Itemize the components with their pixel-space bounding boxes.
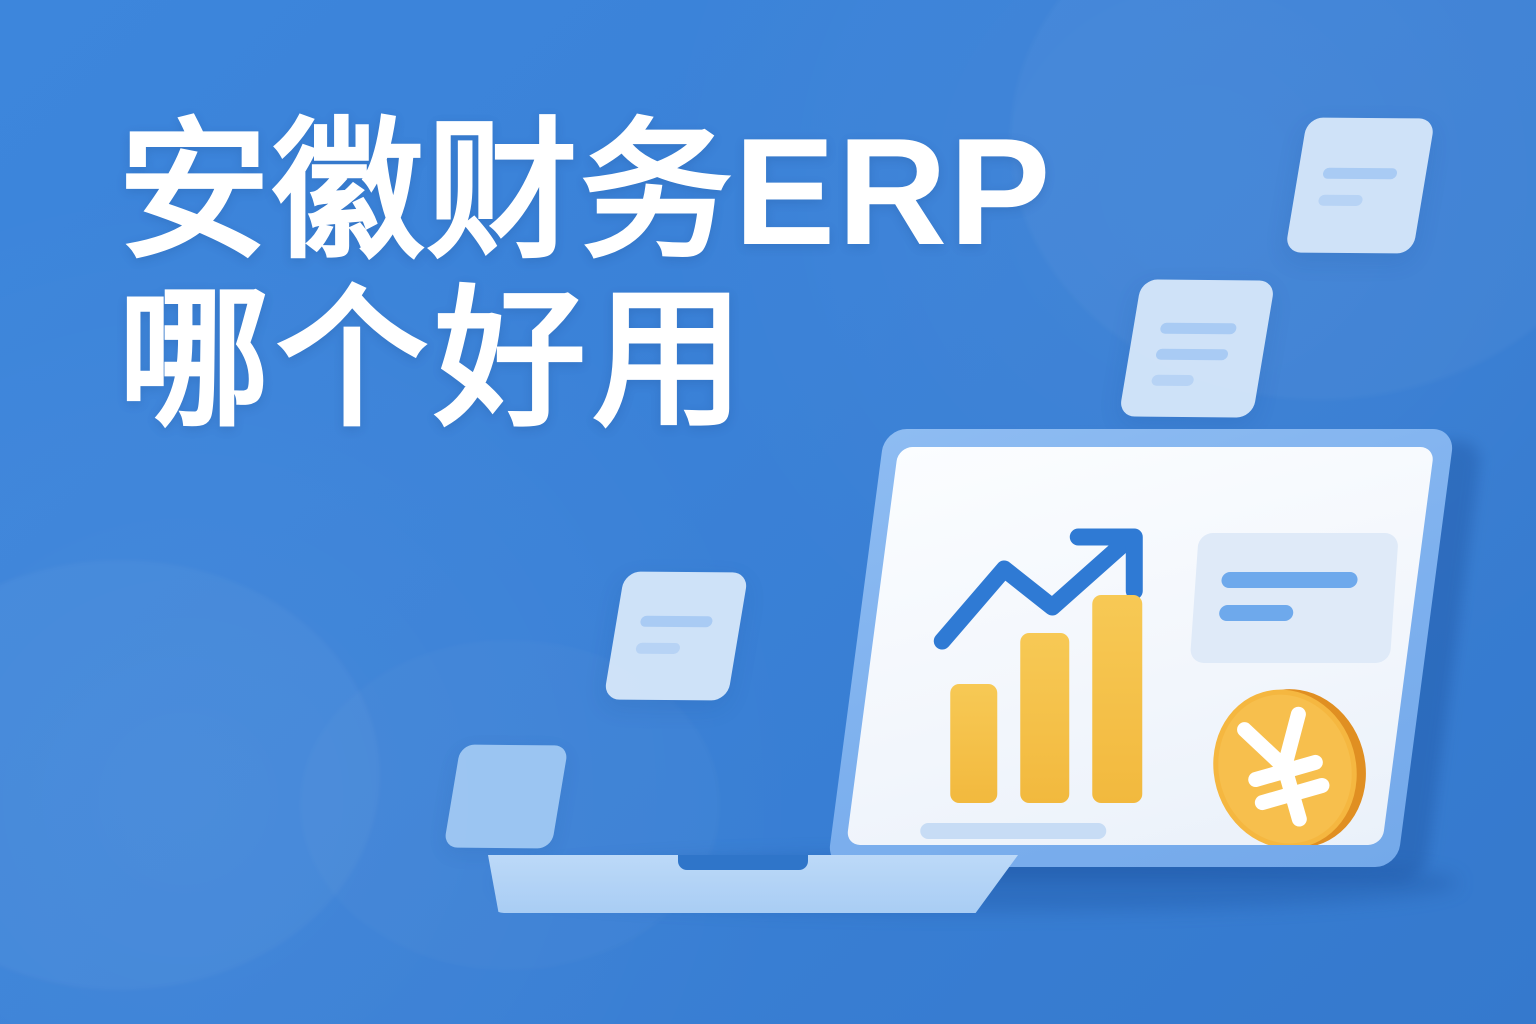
headline-line-1: 安徽财务ERP — [118, 108, 1178, 276]
screen-content — [872, 447, 1408, 845]
bar-chart-bar-2 — [1020, 633, 1069, 803]
document-card-top-right — [1285, 117, 1435, 253]
poster-canvas: 安徽财务ERP 哪个好用 — [0, 0, 1536, 1024]
document-card-line — [1155, 349, 1229, 361]
info-card-line — [1219, 605, 1294, 621]
screen-info-card — [1190, 533, 1399, 663]
screen-placeholder-line — [920, 823, 1106, 839]
bar-chart-bar-1 — [950, 684, 997, 803]
document-card-line — [1318, 195, 1364, 206]
document-card-line — [1159, 323, 1237, 335]
laptop-base — [488, 855, 1018, 913]
laptop-trackpad-notch — [678, 855, 808, 870]
yen-coin-icon — [1190, 675, 1380, 845]
document-card-middle — [1119, 279, 1276, 417]
laptop-lid — [827, 429, 1455, 867]
document-card-line — [1322, 168, 1398, 180]
laptop-illustration — [470, 415, 1490, 935]
info-card-line — [1221, 572, 1358, 588]
headline-block: 安徽财务ERP 哪个好用 — [118, 108, 1178, 444]
laptop-screen — [846, 447, 1434, 845]
document-card-line — [1151, 375, 1195, 386]
bar-chart-bar-3 — [1092, 595, 1142, 803]
